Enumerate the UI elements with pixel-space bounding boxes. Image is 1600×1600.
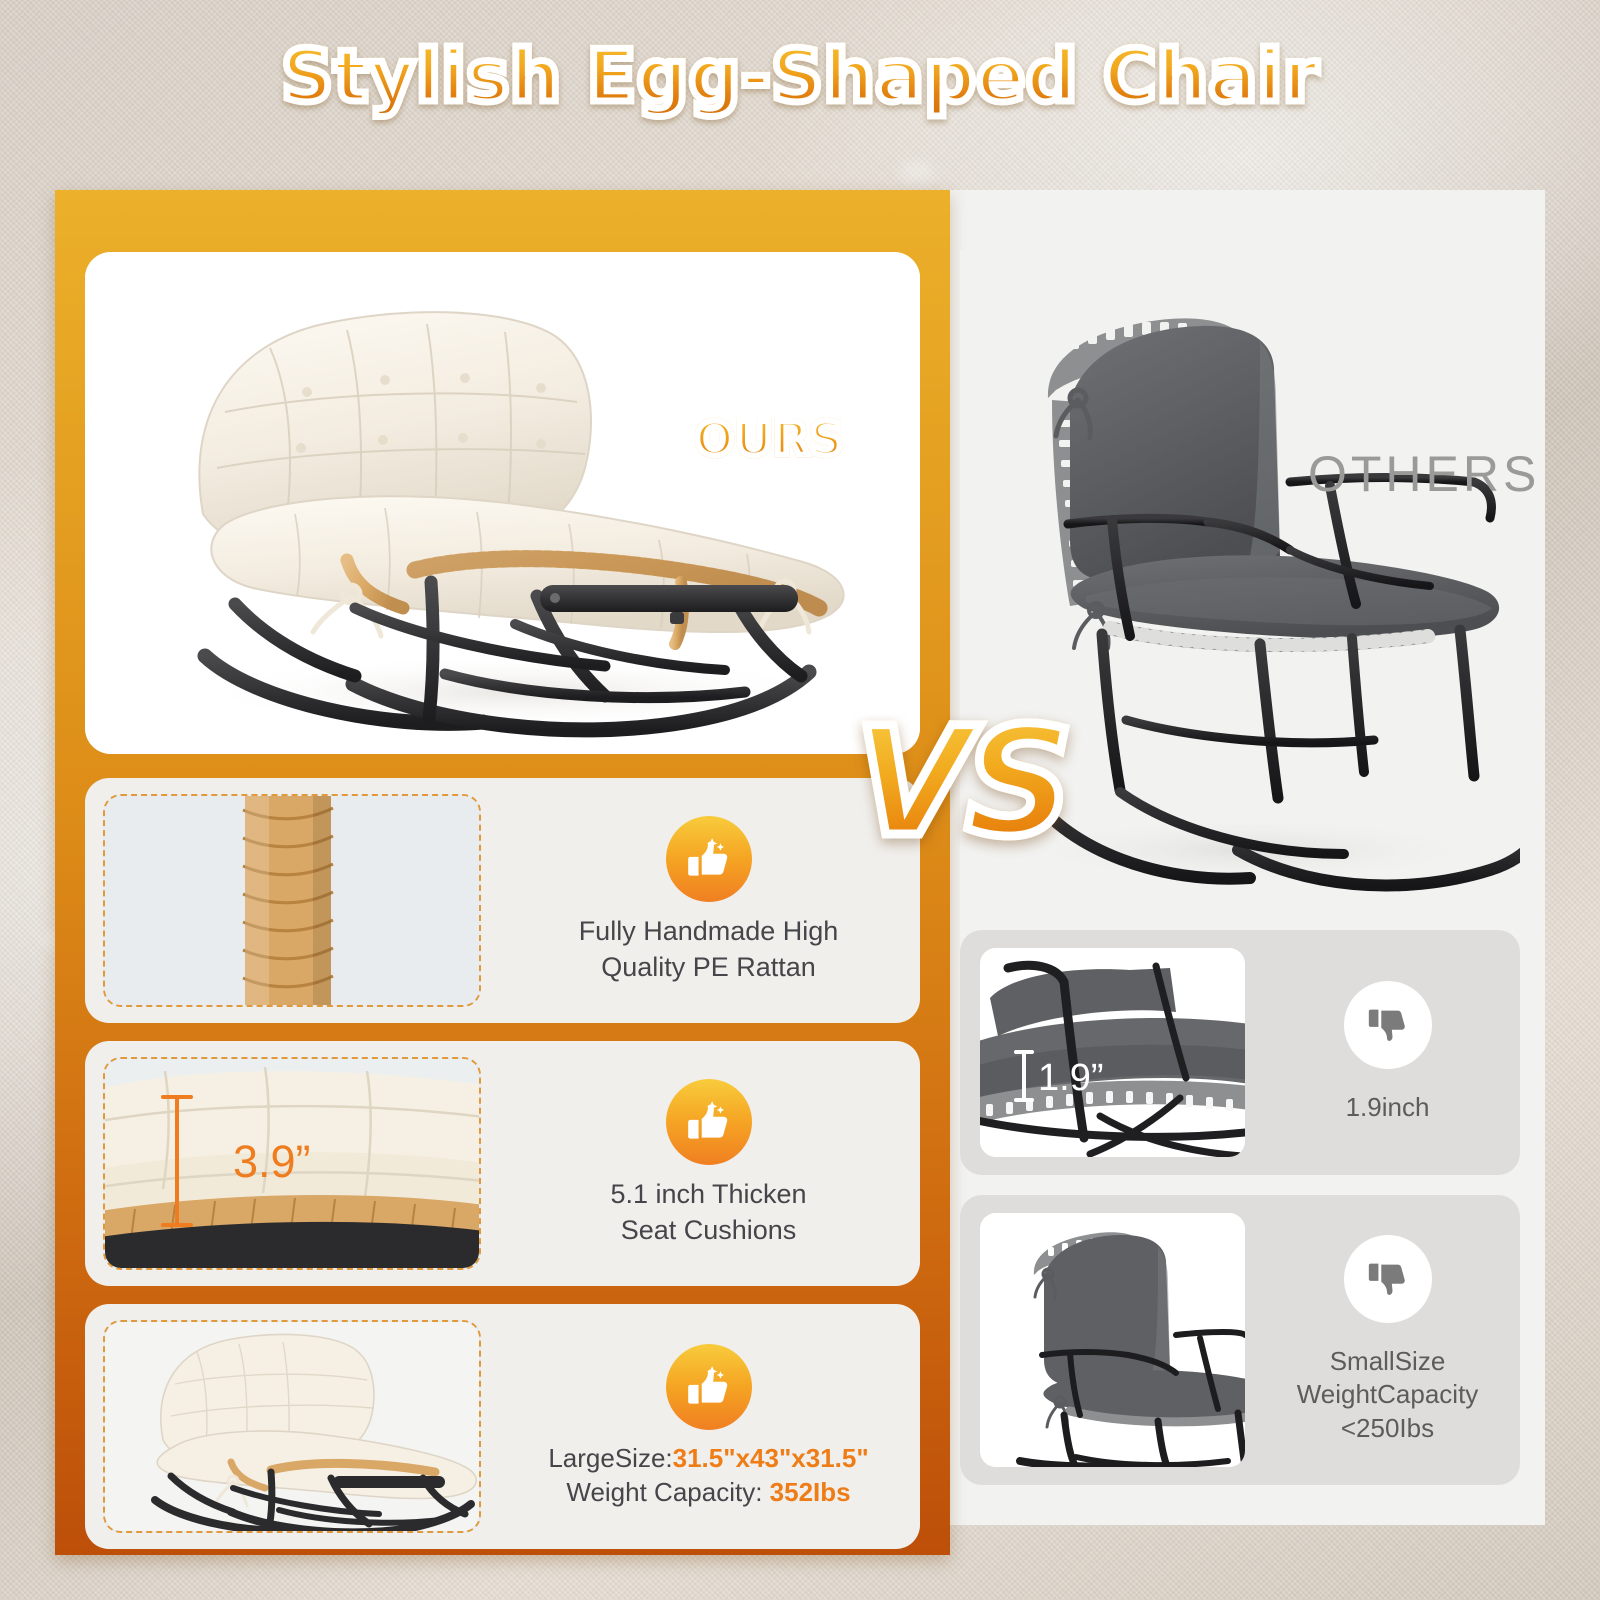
others-card-size: SmallSize WeightCapacity <250Ibs xyxy=(960,1195,1520,1485)
others-text-size: SmallSize WeightCapacity <250Ibs xyxy=(1297,1345,1479,1445)
thumbs-up-glyph xyxy=(684,1362,734,1412)
feature-text-rattan: Fully Handmade High Quality PE Rattan xyxy=(579,914,839,984)
others-text-line: SmallSize xyxy=(1297,1345,1479,1378)
others-photo-thin-cushion: 1.9” xyxy=(980,948,1245,1157)
feature-card-cushion: 3.9” 5.1 inch Thicken Seat Cushions xyxy=(85,1041,920,1286)
feature-photo-rattan xyxy=(103,794,481,1007)
page-title: Stylish Egg-Shaped Chair xyxy=(281,34,1318,118)
feature-text-line: Quality PE Rattan xyxy=(579,950,839,985)
feature-photo-full-chair xyxy=(103,1320,481,1533)
others-body-size: SmallSize WeightCapacity <250Ibs xyxy=(1255,1195,1520,1485)
cushion-closeup-illustration: 3.9” xyxy=(105,1059,479,1268)
feature-card-rattan: Fully Handmade High Quality PE Rattan xyxy=(85,778,920,1023)
others-body-thickness: 1.9inch xyxy=(1255,930,1520,1175)
thumbs-up-icon xyxy=(666,1079,752,1165)
thumbs-up-icon xyxy=(666,816,752,902)
feature-text-size: LargeSize:31.5"x43"x31.5" Weight Capacit… xyxy=(548,1442,868,1510)
ours-panel: Fully Handmade High Quality PE Rattan xyxy=(55,190,950,1555)
thumbs-up-glyph xyxy=(684,834,734,884)
spec-label: Weight Capacity: xyxy=(566,1477,769,1507)
feature-text-line: 5.1 inch Thicken xyxy=(610,1177,806,1212)
vs-badge: VS xyxy=(855,696,1067,870)
others-text-thickness: 1.9inch xyxy=(1346,1091,1430,1124)
feature-text-line: Seat Cushions xyxy=(610,1213,806,1248)
feature-body-size: LargeSize:31.5"x43"x31.5" Weight Capacit… xyxy=(497,1304,920,1549)
others-text-line: WeightCapacity xyxy=(1297,1378,1479,1411)
feature-body-cushion: 5.1 inch Thicken Seat Cushions xyxy=(497,1041,920,1286)
thin-cushion-closeup: 1.9” xyxy=(980,948,1245,1157)
ours-chair-thumbnail xyxy=(105,1322,479,1531)
spec-label: LargeSize: xyxy=(548,1443,672,1473)
rattan-closeup-illustration xyxy=(105,796,479,1005)
feature-photo-cushion: 3.9” xyxy=(103,1057,481,1270)
thumbs-down-icon xyxy=(1344,1235,1432,1323)
ours-chair-illustration xyxy=(85,252,920,754)
feature-text-cushion: 5.1 inch Thicken Seat Cushions xyxy=(610,1177,806,1247)
others-photo-full-chair xyxy=(980,1213,1245,1467)
comparison-stage: Fully Handmade High Quality PE Rattan xyxy=(55,190,1545,1555)
feature-text-line: Fully Handmade High xyxy=(579,914,839,949)
thumbs-down-icon xyxy=(1344,981,1432,1069)
others-card-thickness: 1.9” 1.9inch xyxy=(960,930,1520,1175)
others-text-line: <250Ibs xyxy=(1297,1412,1479,1445)
thumbs-up-icon xyxy=(666,1344,752,1430)
dimension-label-39: 3.9” xyxy=(233,1136,311,1187)
ours-label: OURS xyxy=(695,412,844,466)
others-text-line: 1.9inch xyxy=(1346,1091,1430,1124)
dimension-label-19: 1.9” xyxy=(1038,1057,1103,1099)
spec-line-weight: Weight Capacity: 352Ibs xyxy=(548,1476,868,1510)
thumbs-down-glyph xyxy=(1365,1256,1411,1302)
backdrop-highlight-2 xyxy=(900,160,934,182)
spec-line-size: LargeSize:31.5"x43"x31.5" xyxy=(548,1442,868,1476)
thumbs-down-glyph xyxy=(1365,1002,1411,1048)
spec-value: 352Ibs xyxy=(770,1477,851,1507)
feature-card-size: LargeSize:31.5"x43"x31.5" Weight Capacit… xyxy=(85,1304,920,1549)
ours-hero-photo xyxy=(85,252,920,754)
others-chair-thumbnail xyxy=(980,1213,1245,1467)
thumbs-up-glyph xyxy=(684,1097,734,1147)
page-title-container: Stylish Egg-Shaped Chair xyxy=(0,34,1600,118)
others-label: OTHERS xyxy=(1308,445,1540,503)
spec-value: 31.5"x43"x31.5" xyxy=(673,1443,869,1473)
